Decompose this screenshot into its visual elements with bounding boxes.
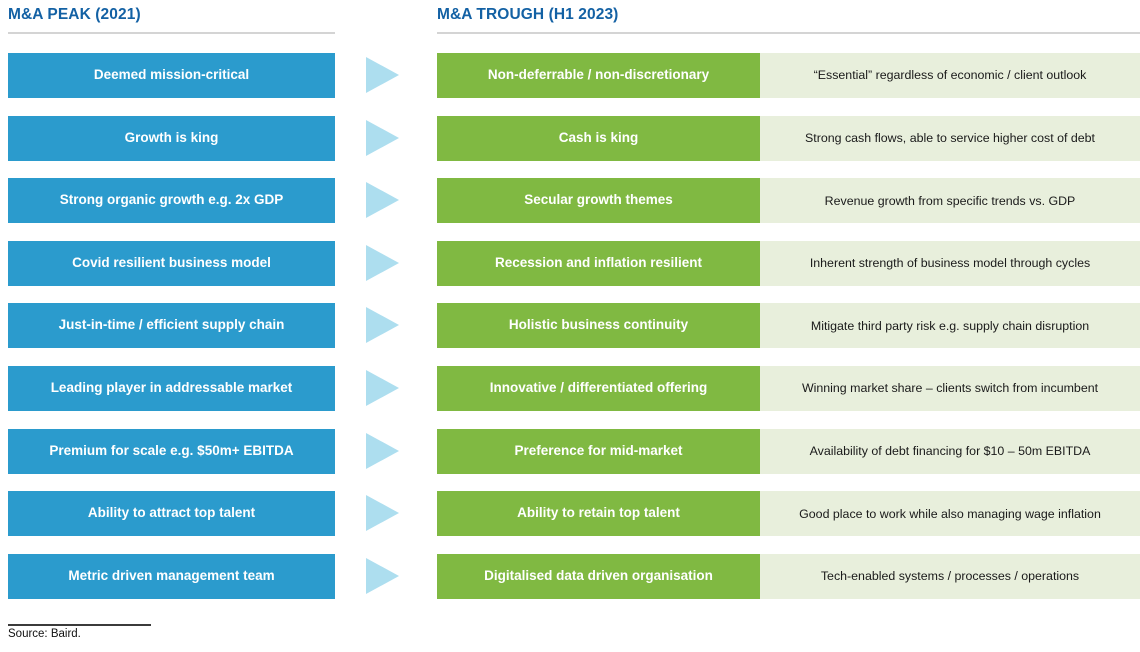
trough-header-divider [437,32,1140,34]
trough-description-label: “Essential” regardless of economic / cli… [814,68,1087,82]
peak-item-label: Covid resilient business model [72,256,271,271]
peak-item-label: Strong organic growth e.g. 2x GDP [60,193,284,208]
trough-item[interactable]: Innovative / differentiated offering [437,366,760,411]
trough-item-label: Cash is king [559,131,639,146]
peak-item-label: Just-in-time / efficient supply chain [59,318,285,333]
arrow-right-icon [366,57,399,93]
peak-item[interactable]: Ability to attract top talent [8,491,335,536]
peak-item[interactable]: Deemed mission-critical [8,53,335,98]
trough-item-label: Preference for mid-market [514,444,682,459]
trough-column-header: M&A TROUGH (H1 2023) [437,6,618,24]
arrow-right-icon [366,120,399,156]
trough-item-label: Non-deferrable / non-discretionary [488,68,709,83]
trough-item[interactable]: Recession and inflation resilient [437,241,760,286]
peak-item-label: Ability to attract top talent [88,506,255,521]
comparison-row: Leading player in addressable marketInno… [0,366,1140,411]
peak-header-divider [8,32,335,34]
peak-item-label: Growth is king [125,131,219,146]
footnote-divider [8,624,151,626]
peak-item[interactable]: Metric driven management team [8,554,335,599]
trough-description-label: Mitigate third party risk e.g. supply ch… [811,319,1089,333]
trough-item-label: Secular growth themes [524,193,673,208]
trough-item-description: Inherent strength of business model thro… [760,241,1140,286]
trough-item[interactable]: Preference for mid-market [437,429,760,474]
trough-item-description: “Essential” regardless of economic / cli… [760,53,1140,98]
trough-item-description: Availability of debt financing for $10 –… [760,429,1140,474]
source-note: Source: Baird. [8,628,81,640]
comparison-row: Metric driven management teamDigitalised… [0,554,1140,599]
trough-item[interactable]: Digitalised data driven organisation [437,554,760,599]
peak-item[interactable]: Premium for scale e.g. $50m+ EBITDA [8,429,335,474]
trough-item-label: Digitalised data driven organisation [484,569,713,584]
trough-item[interactable]: Ability to retain top talent [437,491,760,536]
peak-item[interactable]: Covid resilient business model [8,241,335,286]
arrow-right-icon [366,245,399,281]
trough-item[interactable]: Holistic business continuity [437,303,760,348]
comparison-row: Ability to attract top talentAbility to … [0,491,1140,536]
peak-item-label: Metric driven management team [68,569,274,584]
peak-item[interactable]: Leading player in addressable market [8,366,335,411]
trough-item-description: Good place to work while also managing w… [760,491,1140,536]
comparison-row: Premium for scale e.g. $50m+ EBITDAPrefe… [0,429,1140,474]
trough-description-label: Good place to work while also managing w… [799,507,1101,521]
trough-item-label: Recession and inflation resilient [495,256,702,271]
trough-item[interactable]: Cash is king [437,116,760,161]
arrow-right-icon [366,370,399,406]
arrow-right-icon [366,433,399,469]
trough-item-label: Holistic business continuity [509,318,688,333]
trough-description-label: Winning market share – clients switch fr… [802,381,1098,395]
trough-item-description: Mitigate third party risk e.g. supply ch… [760,303,1140,348]
peak-item[interactable]: Growth is king [8,116,335,161]
arrow-right-icon [366,307,399,343]
comparison-row: Covid resilient business modelRecession … [0,241,1140,286]
trough-item[interactable]: Secular growth themes [437,178,760,223]
comparison-row: Strong organic growth e.g. 2x GDPSecular… [0,178,1140,223]
arrow-right-icon [366,558,399,594]
comparison-row: Growth is kingCash is kingStrong cash fl… [0,116,1140,161]
comparison-row: Just-in-time / efficient supply chainHol… [0,303,1140,348]
trough-item-label: Ability to retain top talent [517,506,680,521]
comparison-row: Deemed mission-criticalNon-deferrable / … [0,53,1140,98]
trough-item[interactable]: Non-deferrable / non-discretionary [437,53,760,98]
trough-item-description: Revenue growth from specific trends vs. … [760,178,1140,223]
trough-item-label: Innovative / differentiated offering [490,381,708,396]
peak-item-label: Premium for scale e.g. $50m+ EBITDA [49,444,293,459]
peak-item[interactable]: Just-in-time / efficient supply chain [8,303,335,348]
trough-description-label: Revenue growth from specific trends vs. … [825,194,1076,208]
trough-item-description: Winning market share – clients switch fr… [760,366,1140,411]
arrow-right-icon [366,495,399,531]
trough-description-label: Strong cash flows, able to service highe… [805,131,1095,145]
arrow-right-icon [366,182,399,218]
peak-item[interactable]: Strong organic growth e.g. 2x GDP [8,178,335,223]
comparison-diagram: M&A PEAK (2021) M&A TROUGH (H1 2023) Dee… [0,0,1140,652]
peak-item-label: Deemed mission-critical [94,68,249,83]
peak-column-header: M&A PEAK (2021) [8,6,141,24]
trough-description-label: Availability of debt financing for $10 –… [810,444,1091,458]
trough-item-description: Strong cash flows, able to service highe… [760,116,1140,161]
trough-item-description: Tech-enabled systems / processes / opera… [760,554,1140,599]
trough-description-label: Tech-enabled systems / processes / opera… [821,569,1079,583]
trough-description-label: Inherent strength of business model thro… [810,256,1090,270]
peak-item-label: Leading player in addressable market [51,381,293,396]
